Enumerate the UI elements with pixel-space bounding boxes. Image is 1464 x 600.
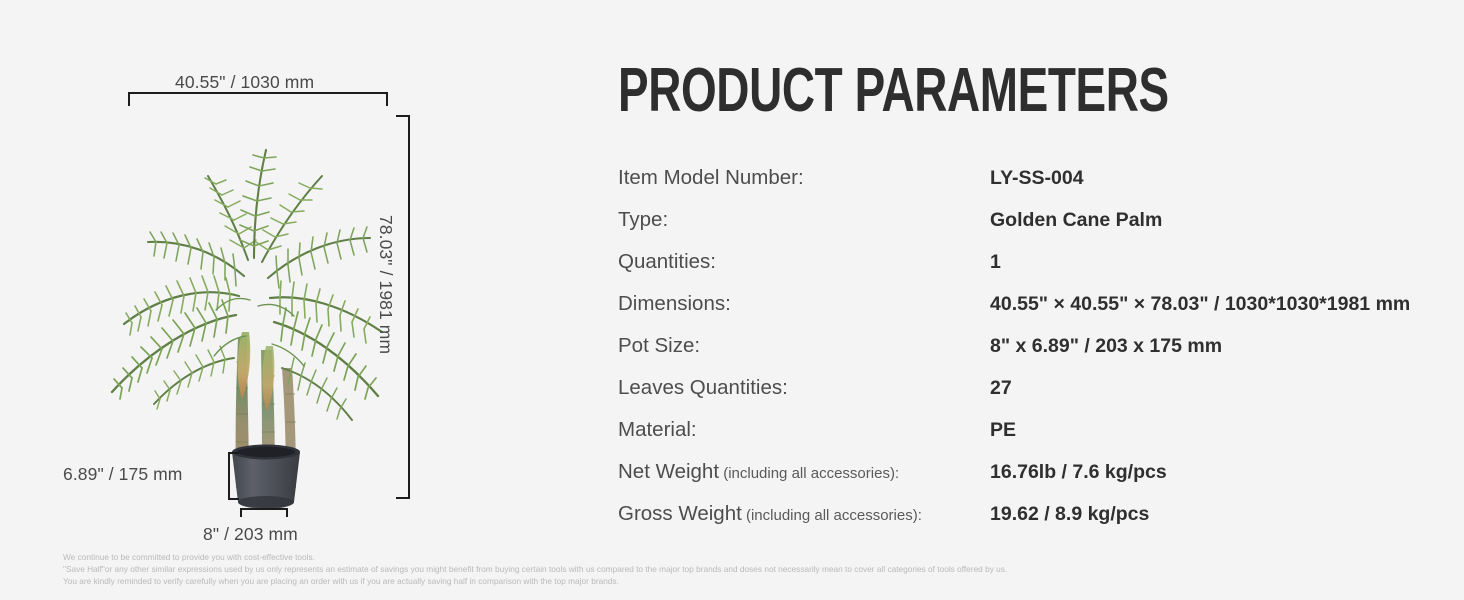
height-bracket-arm-top [396, 115, 410, 117]
parameters-panel: PRODUCT PARAMETERS Item Model Number: LY… [618, 60, 1448, 544]
height-bracket-bar [408, 115, 410, 499]
overall-width-label: 40.55" / 1030 mm [175, 72, 314, 93]
param-label: Quantities: [618, 250, 990, 274]
page-title: PRODUCT PARAMETERS [618, 60, 1232, 122]
pot-height-bracket-bar [228, 452, 230, 500]
table-row: Item Model Number: LY-SS-004 [618, 166, 1448, 208]
param-value: 40.55" × 40.55" × 78.03" / 1030*1030*198… [990, 293, 1410, 316]
param-label-note: (including all accessories): [719, 465, 899, 482]
disclaimer-line-3: You are kindly reminded to verify carefu… [63, 575, 1007, 587]
param-value: 19.62 / 8.9 kg/pcs [990, 503, 1149, 526]
plant-pot [232, 445, 300, 510]
param-value: 1 [990, 251, 1001, 274]
table-row: Material: PE [618, 418, 1448, 460]
overall-height-label: 78.03" / 1981 mm [375, 215, 396, 354]
table-row: Pot Size: 8" x 6.89" / 203 x 175 mm [618, 334, 1448, 376]
param-value: 16.76lb / 7.6 kg/pcs [990, 461, 1167, 484]
height-bracket-arm-bottom [396, 497, 410, 499]
param-label-text: Leaves Quantities: [618, 376, 788, 399]
disclaimer: We continue to be committed to provide y… [63, 551, 1007, 588]
pot-width-label: 8" / 203 mm [203, 524, 298, 545]
param-label: Type: [618, 208, 990, 232]
pot-height-bracket-arm-top [228, 452, 239, 454]
param-label-text: Net Weight [618, 460, 719, 483]
table-row: Quantities: 1 [618, 250, 1448, 292]
pot-width-bracket-bar [240, 508, 288, 510]
product-parameters-page: 40.55" / 1030 mm 78.03" / 1981 mm 6.89" … [0, 0, 1464, 600]
param-label: Leaves Quantities: [618, 376, 990, 400]
param-value: 27 [990, 377, 1012, 400]
param-label: Material: [618, 418, 990, 442]
disclaimer-line-2: "Save Half"or any other similar expressi… [63, 563, 1007, 575]
param-label-text: Pot Size: [618, 334, 700, 357]
table-row: Net Weight (including all accessories): … [618, 460, 1448, 502]
table-row: Gross Weight (including all accessories)… [618, 502, 1448, 544]
param-label: Item Model Number: [618, 166, 990, 190]
pot-width-bracket-tick-right [286, 508, 288, 517]
product-image-panel: 40.55" / 1030 mm 78.03" / 1981 mm 6.89" … [0, 0, 600, 545]
param-label-text: Dimensions: [618, 292, 731, 315]
width-bracket-tick-right [386, 92, 388, 106]
pot-height-bracket-arm-bottom [228, 498, 239, 500]
table-row: Type: Golden Cane Palm [618, 208, 1448, 250]
param-label-text: Material: [618, 418, 697, 441]
param-label-text: Quantities: [618, 250, 716, 273]
width-bracket-tick-left [128, 92, 130, 106]
param-label-note: (including all accessories): [742, 507, 922, 524]
param-label-text: Item Model Number: [618, 166, 804, 189]
golden-cane-palm-image [86, 100, 416, 510]
param-label: Gross Weight (including all accessories)… [618, 502, 990, 526]
param-value: PE [990, 419, 1016, 442]
pot-height-label: 6.89" / 175 mm [63, 464, 182, 485]
param-label: Pot Size: [618, 334, 990, 358]
param-label-text: Type: [618, 208, 668, 231]
param-label: Net Weight (including all accessories): [618, 460, 990, 484]
param-value: 8" x 6.89" / 203 x 175 mm [990, 335, 1222, 358]
param-value: Golden Cane Palm [990, 209, 1162, 232]
pot-width-bracket-tick-left [240, 508, 242, 517]
param-label-text: Gross Weight [618, 502, 742, 525]
param-label: Dimensions: [618, 292, 990, 316]
disclaimer-line-1: We continue to be committed to provide y… [63, 551, 1007, 563]
table-row: Leaves Quantities: 27 [618, 376, 1448, 418]
table-row: Dimensions: 40.55" × 40.55" × 78.03" / 1… [618, 292, 1448, 334]
param-value: LY-SS-004 [990, 167, 1084, 190]
